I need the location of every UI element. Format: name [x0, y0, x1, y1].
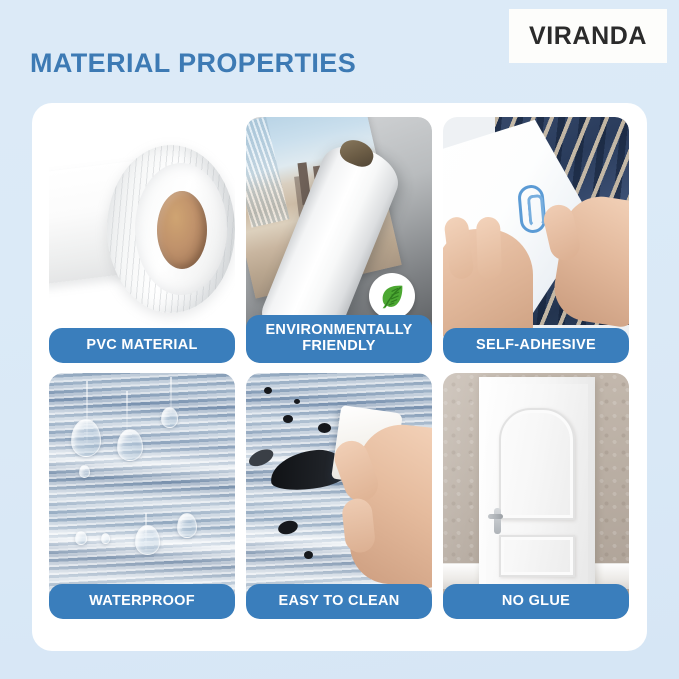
right-hand-shape [550, 191, 629, 329]
water-droplet [117, 429, 143, 461]
water-droplet [75, 531, 87, 545]
stain-spot [264, 387, 272, 394]
water-droplet [161, 407, 178, 428]
hand-shape [346, 420, 432, 589]
pvc-cardboard-core-shape [157, 191, 207, 269]
brand-logo-text: VIRANDA [529, 22, 647, 51]
easy-to-clean-image [246, 373, 432, 619]
feature-card-waterproof[interactable]: WATERPROOF [49, 373, 235, 619]
water-droplet [101, 533, 110, 544]
pvc-roll-image [49, 117, 235, 363]
wood-grain-texture [49, 373, 235, 619]
feature-label-easy-to-clean: EASY TO CLEAN [246, 584, 432, 619]
feature-label-line-1: ENVIRONMENTALLY [265, 322, 412, 338]
brand-logo: VIRANDA [509, 9, 667, 63]
water-droplet [71, 419, 101, 457]
feature-card-self-adhesive[interactable]: SELF-ADHESIVE [443, 117, 629, 363]
feature-label-waterproof: WATERPROOF [49, 584, 235, 619]
door-panel-top [499, 408, 575, 520]
self-adhesive-peel-image [443, 117, 629, 363]
page-title: MATERIAL PROPERTIES [30, 48, 356, 79]
no-glue-door-image [443, 373, 629, 619]
waterproof-image [49, 373, 235, 619]
water-droplet [135, 525, 160, 555]
feature-card-pvc-material[interactable]: PVC MATERIAL [49, 117, 235, 363]
feature-label-pvc-material: PVC MATERIAL [49, 328, 235, 363]
feature-label-environmentally-friendly: ENVIRONMENTALLY FRIENDLY [246, 315, 432, 363]
stain-spot [283, 415, 293, 423]
paperclip-icon [517, 184, 547, 234]
left-hand-shape [443, 229, 533, 337]
water-trail [126, 391, 128, 431]
feature-card-no-glue[interactable]: NO GLUE [443, 373, 629, 619]
feature-card-environmentally-friendly[interactable]: ENVIRONMENTALLY FRIENDLY [246, 117, 432, 363]
leaf-icon [369, 273, 415, 319]
feature-label-self-adhesive: SELF-ADHESIVE [443, 328, 629, 363]
feature-label-no-glue: NO GLUE [443, 584, 629, 619]
door-handle-icon [494, 508, 501, 534]
feature-card-grid: PVC MATERIAL ENVIRONMENTALLY FRIENDLY [49, 117, 630, 619]
page-header: MATERIAL PROPERTIES VIRANDA [0, 0, 679, 103]
water-droplet [79, 465, 90, 478]
stain-spot [294, 399, 300, 404]
feature-card-easy-to-clean[interactable]: EASY TO CLEAN [246, 373, 432, 619]
stain-spot [318, 423, 331, 433]
water-droplet [177, 513, 197, 538]
features-panel: PVC MATERIAL ENVIRONMENTALLY FRIENDLY [32, 103, 647, 651]
stain-spot [304, 551, 313, 559]
feature-label-line-2: FRIENDLY [302, 338, 376, 354]
door-slab [486, 384, 588, 585]
door-frame [479, 377, 595, 585]
door-panel-bottom [499, 535, 575, 577]
